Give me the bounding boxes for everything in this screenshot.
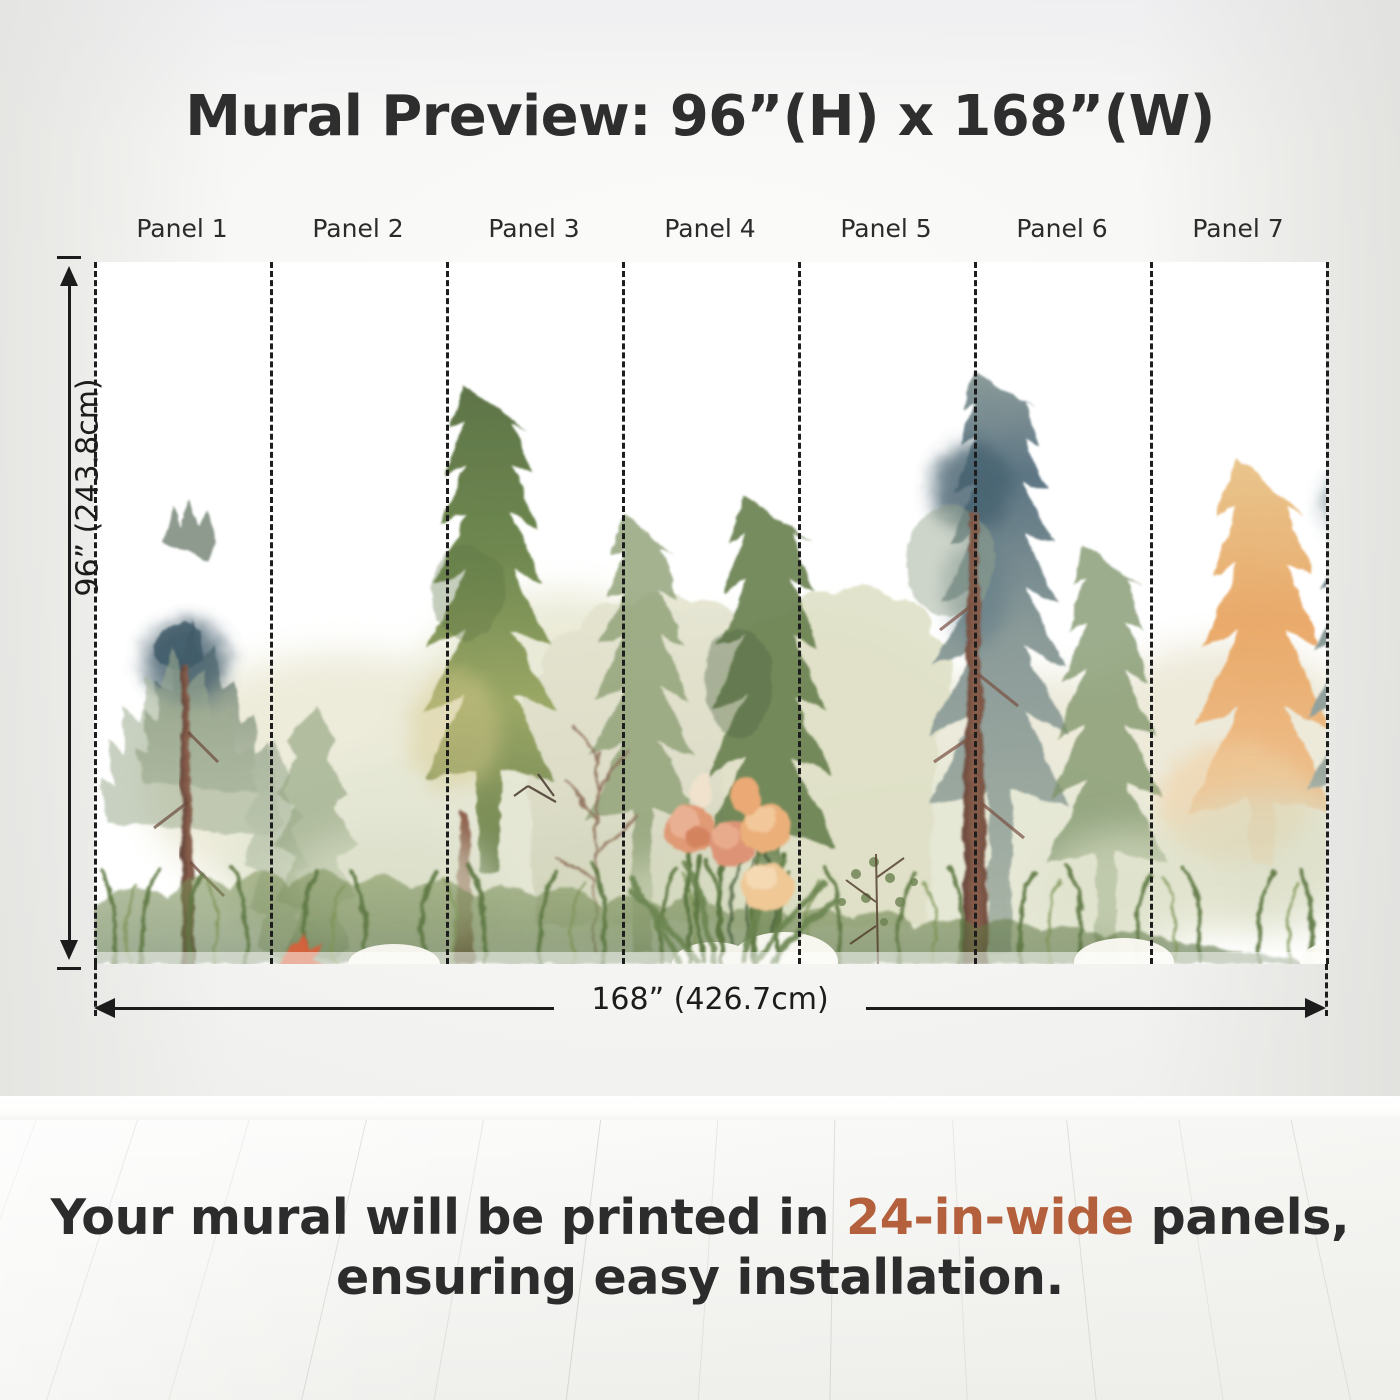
baseboard bbox=[0, 1096, 1400, 1122]
panel-divider bbox=[270, 262, 273, 964]
panel-divider bbox=[622, 262, 625, 964]
mural-artwork bbox=[94, 262, 1326, 964]
arrow-up-icon bbox=[60, 266, 78, 286]
panel-label-3: Panel 3 bbox=[446, 214, 622, 243]
width-dimension-label: 168” (426.7cm) bbox=[94, 982, 1326, 1017]
page-title: Mural Preview: 96”(H) x 168”(W) bbox=[0, 84, 1400, 149]
panel-label-7: Panel 7 bbox=[1150, 214, 1326, 243]
panel-label-2: Panel 2 bbox=[270, 214, 446, 243]
caption-highlight: 24-in-wide bbox=[846, 1189, 1134, 1246]
mural-preview-page: Mural Preview: 96”(H) x 168”(W) bbox=[0, 0, 1400, 1400]
height-dimension-label: 96” (243.8cm) bbox=[71, 338, 106, 638]
caption: Your mural will be printed in 24-in-wide… bbox=[0, 1188, 1400, 1308]
panel-divider bbox=[974, 262, 977, 964]
panel-label-5: Panel 5 bbox=[798, 214, 974, 243]
panel-divider bbox=[1326, 262, 1329, 964]
height-tick-bottom bbox=[57, 967, 81, 970]
panel-label-1: Panel 1 bbox=[94, 214, 270, 243]
caption-part1: Your mural will be printed in bbox=[51, 1189, 846, 1246]
panel-divider bbox=[1150, 262, 1153, 964]
height-tick-top bbox=[57, 256, 81, 259]
panel-divider bbox=[446, 262, 449, 964]
mural-preview-area[interactable]: Panel 1 Panel 2 Panel 3 Panel 4 Panel 5 … bbox=[94, 262, 1326, 964]
panel-divider bbox=[798, 262, 801, 964]
panel-label-6: Panel 6 bbox=[974, 214, 1150, 243]
arrow-down-icon bbox=[60, 940, 78, 960]
panel-label-4: Panel 4 bbox=[622, 214, 798, 243]
